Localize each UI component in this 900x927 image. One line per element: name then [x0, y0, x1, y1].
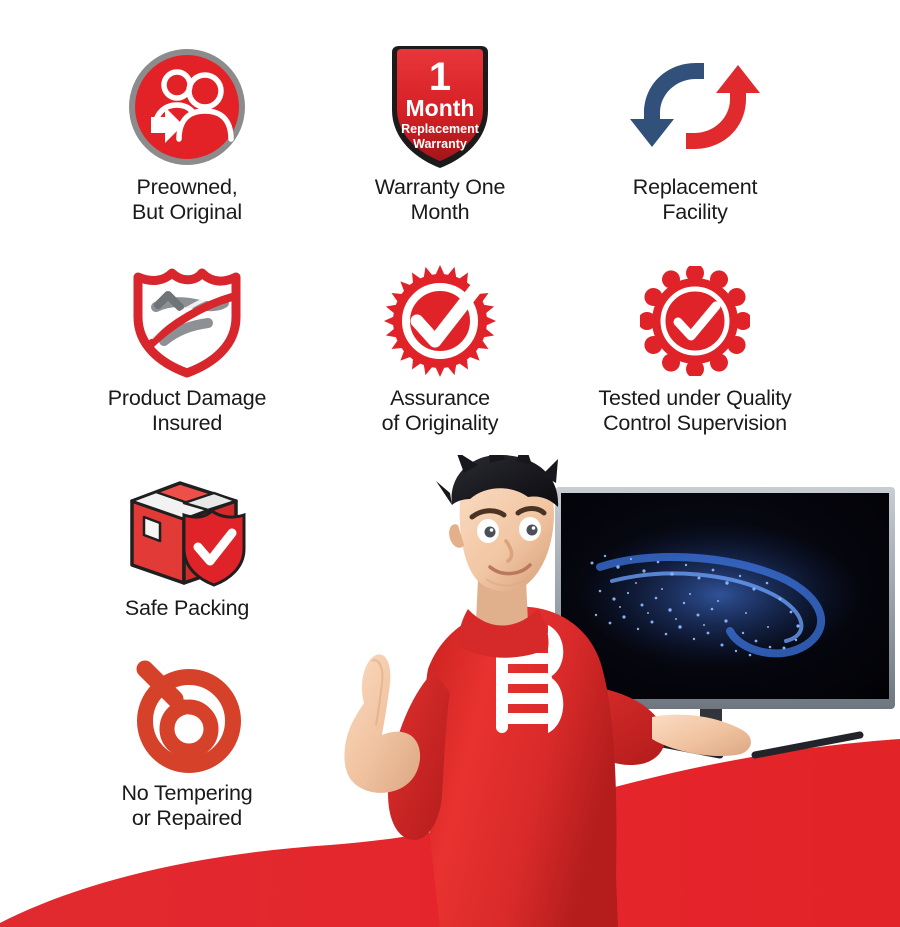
feature-label: No Tempering or Repaired — [52, 781, 322, 832]
replacement-exchange-arrows-icon-wrap — [560, 44, 830, 169]
feature-label: Replacement Facility — [560, 175, 830, 226]
preowned-user-swap-icon — [125, 45, 249, 169]
no-tempering-wrench-circle-icon-wrap — [52, 655, 322, 775]
originality-starburst-check-icon — [381, 265, 499, 377]
feature-label: Product Damage Insured — [52, 386, 322, 437]
feature-label: Preowned, But Original — [52, 175, 322, 226]
feature-warranty-one-month[interactable]: 1 Month Replacement Warranty Warranty On… — [305, 44, 575, 226]
damage-shield-broken-tools-icon-wrap — [52, 262, 322, 380]
damage-shield-broken-tools-icon — [128, 263, 246, 379]
safe-packing-box-shield-icon-wrap — [52, 470, 322, 590]
infographic-canvas: Preowned, But Original 1 Month — [0, 0, 900, 927]
badge-line-1: 1 — [429, 55, 451, 99]
no-tempering-wrench-circle-icon — [127, 655, 247, 775]
feature-label: Assurance of Originality — [305, 386, 575, 437]
warranty-shield-badge-icon-wrap: 1 Month Replacement Warranty — [305, 44, 575, 169]
feature-product-damage-insured[interactable]: Product Damage Insured — [52, 262, 322, 437]
feature-grid: Preowned, But Original 1 Month — [0, 0, 900, 880]
badge-line-2: Month — [406, 95, 475, 121]
warranty-shield-badge-icon: 1 Month Replacement Warranty — [380, 42, 500, 172]
feature-tested-under-quality-control[interactable]: Tested under Quality Control Supervision — [560, 262, 830, 437]
badge-line-4: Warranty — [413, 137, 467, 151]
badge-line-3: Replacement — [401, 122, 480, 136]
feature-label: Warranty One Month — [305, 175, 575, 226]
feature-label: Safe Packing — [52, 596, 322, 621]
feature-no-tempering-or-repaired[interactable]: No Tempering or Repaired — [52, 655, 322, 832]
quality-control-check-seal-icon-wrap — [560, 262, 830, 380]
replacement-exchange-arrows-icon — [630, 47, 760, 167]
feature-label: Tested under Quality Control Supervision — [560, 386, 830, 437]
preowned-user-swap-icon-wrap — [52, 44, 322, 169]
originality-starburst-check-icon-wrap — [305, 262, 575, 380]
feature-assurance-of-originality[interactable]: Assurance of Originality — [305, 262, 575, 437]
feature-safe-packing[interactable]: Safe Packing — [52, 470, 322, 621]
feature-replacement-facility[interactable]: Replacement Facility — [560, 44, 830, 226]
quality-control-check-seal-icon — [640, 266, 750, 376]
safe-packing-box-shield-icon — [122, 471, 252, 589]
feature-preowned-but-original[interactable]: Preowned, But Original — [52, 44, 322, 226]
